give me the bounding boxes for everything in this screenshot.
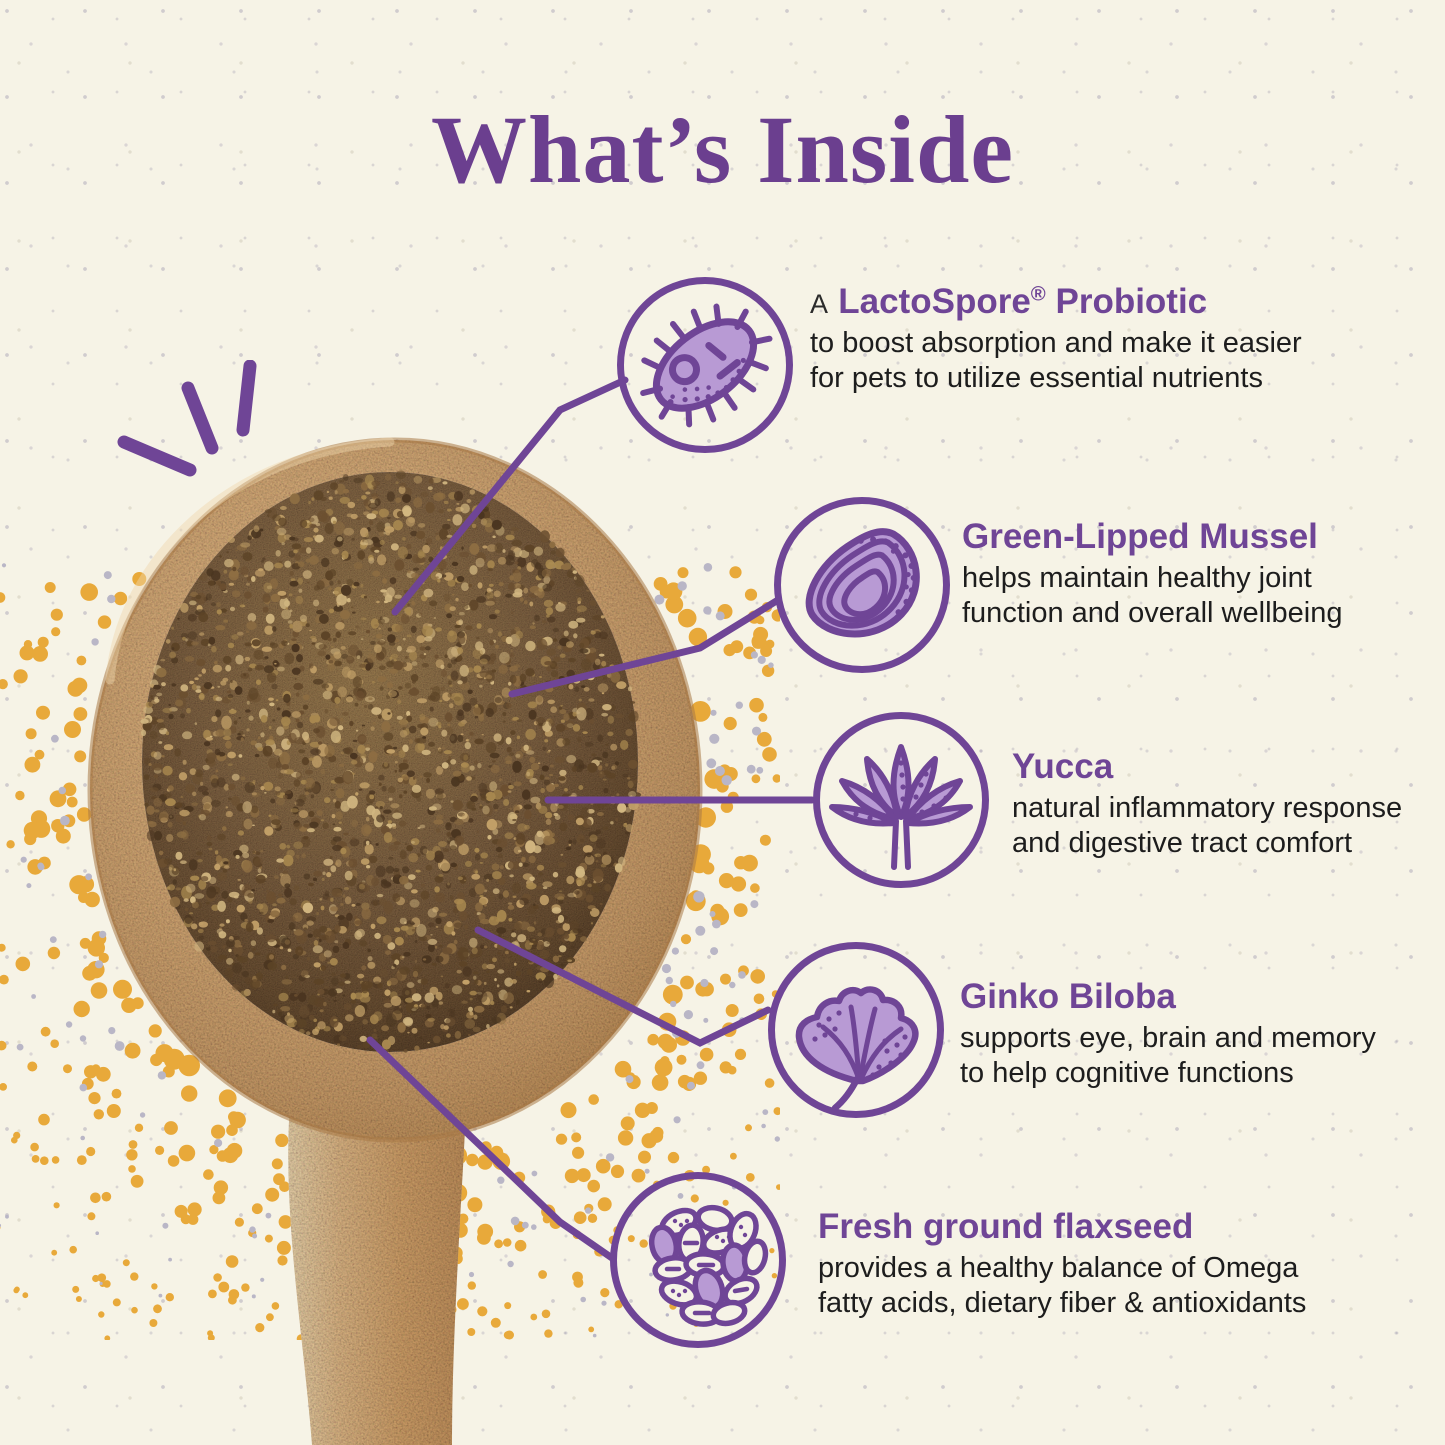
ginkgo-leaf-icon (768, 942, 944, 1118)
callout-heading-tail-lactospore: Probiotic (1046, 282, 1207, 321)
leader-line-flaxseed (370, 1040, 612, 1258)
sparkle-dash-1 (124, 442, 190, 470)
sparkle-dash-3 (243, 366, 250, 430)
callout-body-lactospore: to boost absorption and make it easier f… (810, 326, 1350, 397)
registered-trademark-icon: ® (1031, 283, 1046, 305)
callout-heading-flaxseed: Fresh ground flaxseed (818, 1208, 1328, 1247)
leader-line-mussel (512, 600, 778, 694)
callout-text-green-lipped-mussel: Green-Lipped Mussel helps maintain healt… (962, 518, 1432, 631)
callout-lead-word-lactospore: A (810, 289, 829, 319)
callout-heading-yucca: Yucca (1012, 748, 1432, 787)
sparkle-dash-2 (188, 388, 212, 448)
callout-text-yucca: Yucca natural inflammatory response and … (1012, 748, 1432, 861)
probiotic-bacterium-icon (617, 277, 793, 453)
callout-body-ginko-biloba: supports eye, brain and memory to help c… (960, 1021, 1410, 1092)
callout-text-lactospore: A LactoSpore® Probiotic to boost absorpt… (810, 283, 1350, 396)
leader-line-lactospore (395, 380, 625, 612)
callout-heading-ginko-biloba: Ginko Biloba (960, 978, 1410, 1017)
purple-sparkle-dashes (110, 360, 330, 500)
callout-heading-main-lactospore: LactoSpore (838, 282, 1031, 321)
yucca-plant-icon (813, 712, 989, 888)
callout-heading-green-lipped-mussel: Green-Lipped Mussel (962, 518, 1432, 557)
infographic-canvas: What’s Inside (0, 0, 1445, 1445)
callout-text-ginko-biloba: Ginko Biloba supports eye, brain and mem… (960, 978, 1410, 1091)
callout-heading-lactospore: A LactoSpore® Probiotic (810, 283, 1350, 322)
callout-body-flaxseed: provides a healthy balance of Omega fatt… (818, 1251, 1328, 1322)
callout-body-yucca: natural inflammatory response and digest… (1012, 791, 1432, 862)
mussel-shell-icon (774, 497, 950, 673)
flaxseed-cluster-icon (610, 1172, 786, 1348)
callout-body-green-lipped-mussel: helps maintain healthy joint function an… (962, 561, 1432, 632)
page-title: What’s Inside (0, 100, 1445, 201)
leader-line-ginko (478, 930, 768, 1043)
callout-text-flaxseed: Fresh ground flaxseed provides a healthy… (818, 1208, 1328, 1321)
